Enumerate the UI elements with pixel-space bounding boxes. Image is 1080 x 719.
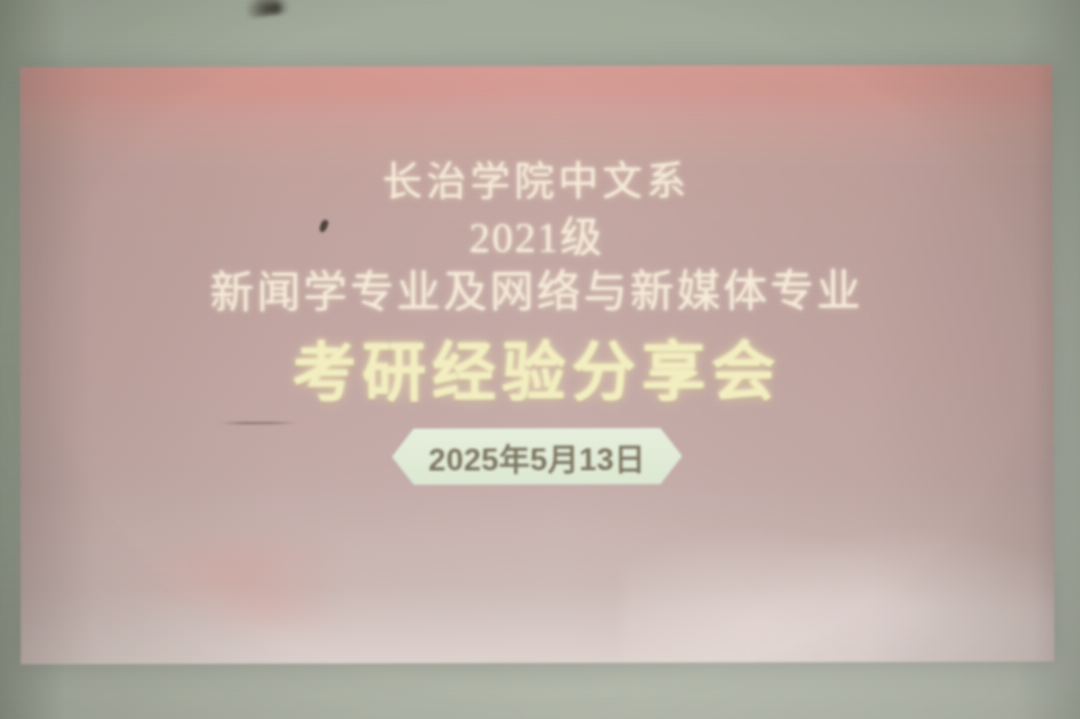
decorative-blob-left-secondary bbox=[161, 567, 381, 658]
slide-line-grade: 2021级 bbox=[20, 217, 1053, 262]
slide-text-block: 长治学院中文系 2021级 新闻学专业及网络与新媒体专业 考研经验分享会 202… bbox=[20, 65, 1052, 68]
date-badge-container: 2025年5月13日 bbox=[20, 427, 1053, 486]
slide-line-organization: 长治学院中文系 bbox=[20, 161, 1052, 204]
decorative-mountain-shape bbox=[621, 471, 1054, 664]
date-badge-label: 2025年5月13日 bbox=[428, 434, 645, 480]
decorative-bottom-haze bbox=[21, 585, 1055, 664]
decorative-blob-left bbox=[91, 507, 412, 638]
projected-slide: 长治学院中文系 2021级 新闻学专业及网络与新媒体专业 考研经验分享会 202… bbox=[20, 65, 1054, 665]
wall-smudge-mark-secondary bbox=[268, 0, 284, 16]
slide-line-majors: 新闻学专业及网络与新媒体专业 bbox=[20, 270, 1053, 317]
slide-main-title: 考研经验分享会 bbox=[20, 340, 1053, 407]
slide-scratch-artifact bbox=[221, 422, 297, 424]
wall-smudge-mark bbox=[243, 0, 292, 19]
date-badge: 2025年5月13日 bbox=[392, 428, 682, 485]
photo-canvas: 长治学院中文系 2021级 新闻学专业及网络与新媒体专业 考研经验分享会 202… bbox=[0, 0, 1080, 719]
